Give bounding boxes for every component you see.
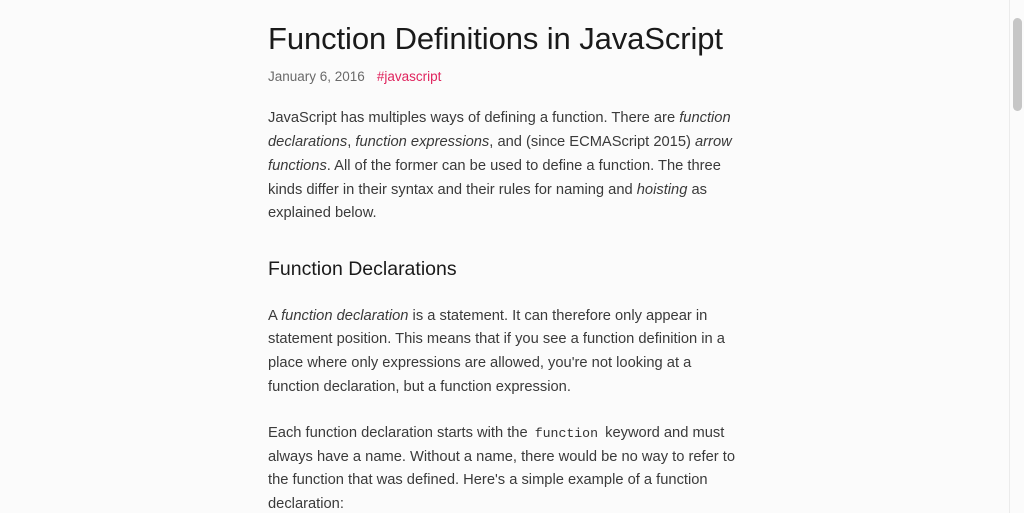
post-meta: January 6, 2016#javascript	[268, 68, 746, 86]
vertical-scrollbar[interactable]	[1009, 0, 1024, 513]
intro-text-part3: , and (since ECMAScript 2015)	[489, 134, 695, 150]
intro-paragraph: JavaScript has multiples ways of definin…	[268, 85, 746, 226]
article-content: Function Definitions in JavaScript Janua…	[268, 0, 746, 513]
post-date: January 6, 2016	[268, 69, 365, 84]
page-title: Function Definitions in JavaScript	[268, 0, 746, 57]
section-heading-function-declarations: Function Declarations	[268, 226, 746, 282]
intro-em-hoisting: hoisting	[637, 182, 688, 198]
scrollbar-thumb[interactable]	[1013, 18, 1022, 111]
para2-part1: Each function declaration starts with th…	[268, 425, 532, 441]
para1-em-function-declaration: function declaration	[281, 308, 408, 324]
browser-viewport: Function Definitions in JavaScript Janua…	[0, 0, 1024, 513]
tag-link-javascript[interactable]: #javascript	[377, 69, 442, 84]
section-paragraph-2: Each function declaration starts with th…	[268, 400, 746, 513]
para1-part1: A	[268, 308, 281, 324]
intro-em-function-expressions: function expressions	[355, 134, 489, 150]
intro-text-part1: JavaScript has multiples ways of definin…	[268, 110, 679, 126]
inline-code-function-keyword: function	[532, 426, 601, 441]
section-paragraph-1: A function declaration is a statement. I…	[268, 283, 746, 400]
